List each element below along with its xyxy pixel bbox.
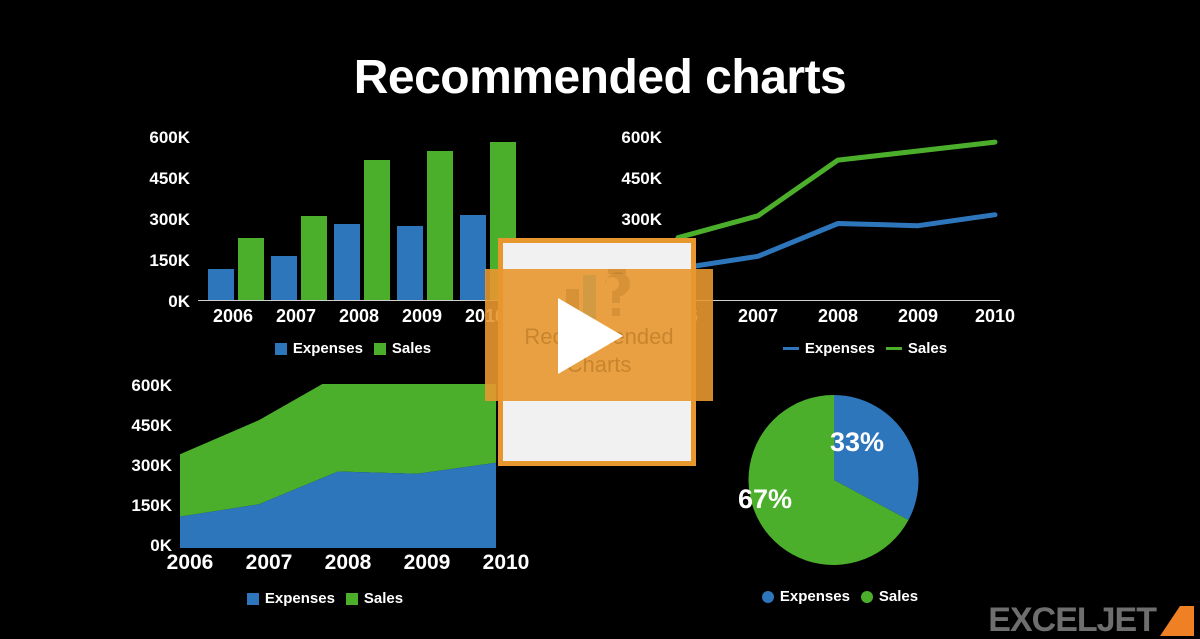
line-plot-area [670, 136, 1000, 300]
pie-data-label-sales: 67% [738, 484, 792, 515]
bar-expenses-2010 [460, 215, 486, 300]
bar-ytick-2: 300K [130, 210, 190, 230]
line-chart: 600K 450K 300K 2006 2007 2008 2009 2010 … [600, 118, 1020, 368]
legend-item-sales: Sales [886, 340, 947, 357]
area-xtick-2007: 2007 [236, 551, 302, 575]
bar-sales-2007 [301, 216, 327, 300]
pie-chart: 33% 67% Expenses Sales [700, 380, 1030, 610]
line-ytick-0: 600K [600, 128, 662, 148]
pie-chart-legend: Expenses Sales [720, 588, 960, 605]
play-button-icon[interactable] [558, 298, 623, 374]
legend-label-sales: Sales [908, 340, 947, 357]
bar-sales-2009 [427, 151, 453, 300]
legend-item-expenses: Expenses [783, 340, 875, 357]
bar-chart: 600K 450K 300K 150K 0K 2006 2007 2008 [130, 118, 510, 368]
bar-ytick-1: 450K [130, 169, 190, 189]
legend-line-expenses-icon [783, 347, 799, 350]
bar-xtick-2008: 2008 [326, 306, 392, 327]
line-xtick-2010: 2010 [962, 306, 1028, 327]
legend-item-expenses: Expenses [275, 340, 363, 357]
area-ytick-0: 600K [110, 376, 172, 396]
legend-dot-expenses-icon [762, 591, 774, 603]
bar-ytick-0: 600K [130, 128, 190, 148]
legend-item-expenses: Expenses [762, 588, 850, 605]
legend-label-sales: Sales [879, 588, 918, 605]
bar-ytick-4: 0K [130, 292, 190, 312]
bar-x-axis [198, 300, 508, 301]
legend-label-expenses: Expenses [265, 590, 335, 607]
pie-plot-area [744, 390, 924, 570]
legend-line-sales-icon [886, 347, 902, 350]
page-title: Recommended charts [0, 52, 1200, 105]
legend-label-expenses: Expenses [780, 588, 850, 605]
bar-sales-2006 [238, 238, 264, 300]
bar-xtick-2006: 2006 [200, 306, 266, 327]
line-xtick-2009: 2009 [885, 306, 951, 327]
legend-item-expenses: Expenses [247, 590, 335, 607]
pie-data-label-expenses: 33% [830, 427, 884, 458]
bar-chart-legend: Expenses Sales [198, 340, 508, 357]
legend-swatch-sales-icon [346, 593, 358, 605]
bar-xtick-2009: 2009 [389, 306, 455, 327]
area-chart-legend: Expenses Sales [170, 590, 480, 607]
bar-expenses-2006 [208, 269, 234, 300]
legend-item-sales: Sales [861, 588, 918, 605]
bar-expenses-2008 [334, 224, 360, 301]
line-x-axis [670, 300, 1000, 301]
area-ytick-1: 450K [110, 416, 172, 436]
logo-mark-icon [1160, 606, 1194, 636]
area-ytick-2: 300K [110, 456, 172, 476]
slide-canvas: Recommended charts 600K 450K 300K 150K 0… [0, 0, 1200, 630]
legend-swatch-expenses-icon [275, 343, 287, 355]
legend-dot-sales-icon [861, 591, 873, 603]
line-xtick-2007: 2007 [725, 306, 791, 327]
line-ytick-2: 300K [600, 210, 662, 230]
area-ytick-3: 150K [110, 496, 172, 516]
bar-ytick-3: 150K [130, 251, 190, 271]
line-ytick-1: 450K [600, 169, 662, 189]
area-plot-area [180, 384, 505, 548]
legend-item-sales: Sales [374, 340, 431, 357]
area-xtick-2010: 2010 [473, 551, 539, 575]
legend-item-sales: Sales [346, 590, 403, 607]
line-xtick-2006: 2006 [645, 306, 711, 327]
legend-label-sales: Sales [364, 590, 403, 607]
bar-expenses-2009 [397, 226, 423, 300]
logo-wordmark: EXCELJET [988, 604, 1156, 636]
legend-label-expenses: Expenses [293, 340, 363, 357]
bar-plot-area [198, 136, 508, 300]
legend-label-expenses: Expenses [805, 340, 875, 357]
line-xtick-2008: 2008 [805, 306, 871, 327]
legend-label-sales: Sales [392, 340, 431, 357]
area-chart: 600K 450K 300K 150K 0K 2006 2007 2008 20… [110, 368, 530, 618]
exceljet-logo: EXCELJET [988, 604, 1194, 636]
bar-expenses-2007 [271, 256, 297, 300]
bar-xtick-2010: 2010 [452, 306, 518, 327]
bar-xtick-2007: 2007 [263, 306, 329, 327]
bar-sales-2010 [490, 142, 516, 300]
line-chart-legend: Expenses Sales [710, 340, 1020, 357]
area-xtick-2009: 2009 [394, 551, 460, 575]
area-xtick-2008: 2008 [315, 551, 381, 575]
bar-sales-2008 [364, 160, 390, 300]
area-xtick-2006: 2006 [157, 551, 223, 575]
legend-swatch-expenses-icon [247, 593, 259, 605]
legend-swatch-sales-icon [374, 343, 386, 355]
